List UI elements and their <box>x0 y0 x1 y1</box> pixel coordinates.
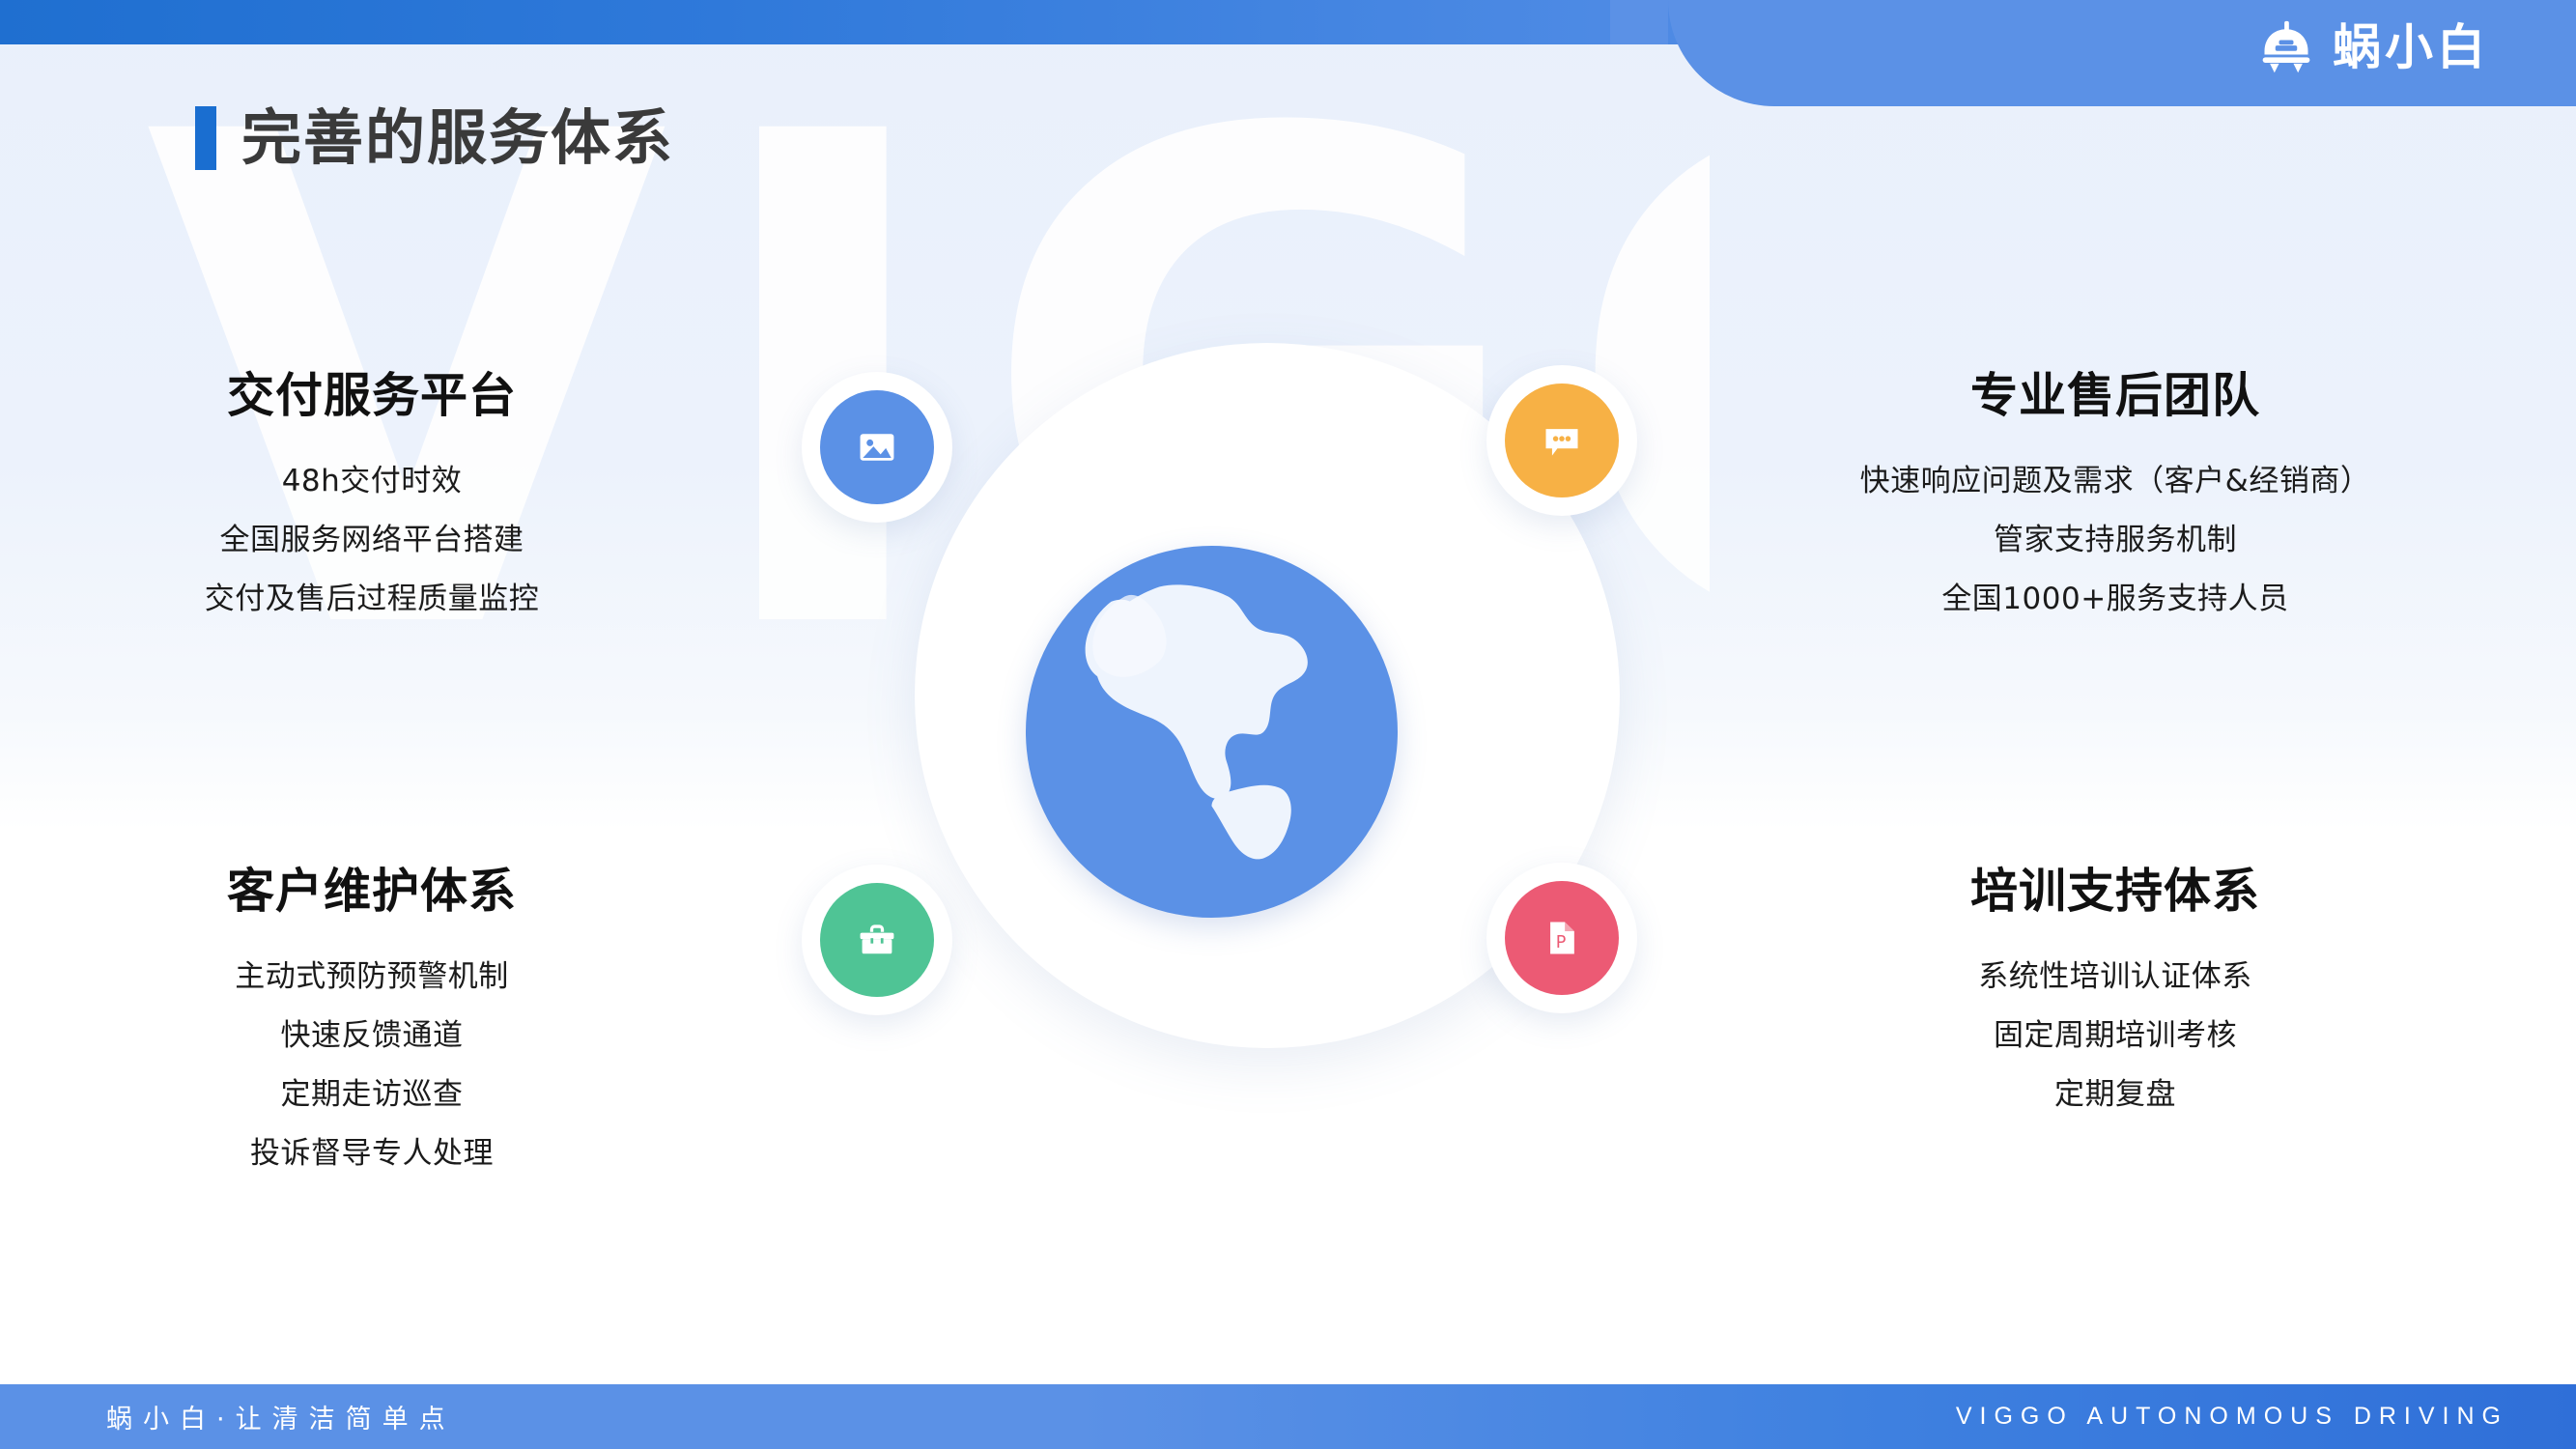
brand-logo: 蜗小白 <box>2257 14 2489 81</box>
footer-tagline: VIGGO AUTONOMOUS DRIVING <box>1956 1384 2508 1449</box>
slide: VIGGO 蜗小白 完善的服务体系 <box>0 0 2576 1449</box>
badge-inner <box>820 390 934 504</box>
footer-bar: 蜗小白·让清洁简单点 VIGGO AUTONOMOUS DRIVING <box>0 1384 2576 1449</box>
image-icon <box>856 426 898 469</box>
quadrant-line: 快速反馈通道 <box>0 1007 744 1065</box>
quadrant-top-right: 专业售后团队 快速响应问题及需求（客户&经销商） 管家支持服务机制 全国1000… <box>1642 372 2576 629</box>
badge-inner <box>820 883 934 997</box>
quadrant-line: 48h交付时效 <box>0 452 744 511</box>
quadrant-title: 交付服务平台 <box>0 372 744 419</box>
quadrant-title: 客户维护体系 <box>0 867 744 915</box>
badge-after-sales-team[interactable] <box>1486 365 1637 516</box>
page-title-text: 完善的服务体系 <box>241 108 674 168</box>
quadrant-title: 专业售后团队 <box>1642 372 2576 419</box>
quadrant-line: 系统性培训认证体系 <box>1642 948 2576 1007</box>
quadrant-line: 定期复盘 <box>1642 1065 2576 1124</box>
quadrant-bottom-left: 客户维护体系 主动式预防预警机制 快速反馈通道 定期走访巡查 投诉督导专人处理 <box>0 867 744 1183</box>
badge-customer-maintenance[interactable] <box>802 865 952 1015</box>
quadrant-lines: 系统性培训认证体系 固定周期培训考核 定期复盘 <box>1642 948 2576 1124</box>
quadrant-line: 全国服务网络平台搭建 <box>0 511 744 570</box>
header-panel-curve <box>1552 0 1668 106</box>
brand-name: 蜗小白 <box>2333 23 2489 71</box>
quadrant-line: 定期走访巡查 <box>0 1065 744 1124</box>
quadrant-line: 主动式预防预警机制 <box>0 948 744 1007</box>
title-accent-bar <box>195 106 216 170</box>
document-p-icon: P <box>1541 917 1583 959</box>
quadrant-line: 全国1000+服务支持人员 <box>1642 570 2576 629</box>
badge-inner: P <box>1505 881 1619 995</box>
quadrant-title: 培训支持体系 <box>1642 867 2576 915</box>
footer-slogan: 蜗小白·让清洁简单点 <box>106 1384 456 1449</box>
quadrant-top-left: 交付服务平台 48h交付时效 全国服务网络平台搭建 交付及售后过程质量监控 <box>0 372 744 629</box>
badge-inner <box>1505 384 1619 497</box>
quadrant-lines: 48h交付时效 全国服务网络平台搭建 交付及售后过程质量监控 <box>0 452 744 629</box>
snail-robot-logo-icon <box>2257 18 2315 76</box>
quadrant-line: 管家支持服务机制 <box>1642 511 2576 570</box>
quadrant-line: 固定周期培训考核 <box>1642 1007 2576 1065</box>
quadrant-line: 交付及售后过程质量监控 <box>0 570 744 629</box>
svg-text:P: P <box>1556 933 1567 952</box>
quadrant-line: 快速响应问题及需求（客户&经销商） <box>1642 452 2576 511</box>
page-title: 完善的服务体系 <box>195 106 674 170</box>
badge-delivery-platform[interactable] <box>802 372 952 523</box>
quadrant-line: 投诉督导专人处理 <box>0 1124 744 1183</box>
globe-americas-icon <box>1026 546 1398 918</box>
quadrant-bottom-right: 培训支持体系 系统性培训认证体系 固定周期培训考核 定期复盘 <box>1642 867 2576 1124</box>
toolbox-icon <box>856 919 898 961</box>
quadrant-lines: 主动式预防预警机制 快速反馈通道 定期走访巡查 投诉督导专人处理 <box>0 948 744 1183</box>
chat-bubble-icon <box>1541 419 1583 462</box>
quadrant-lines: 快速响应问题及需求（客户&经销商） 管家支持服务机制 全国1000+服务支持人员 <box>1642 452 2576 629</box>
badge-training-support[interactable]: P <box>1486 863 1637 1013</box>
